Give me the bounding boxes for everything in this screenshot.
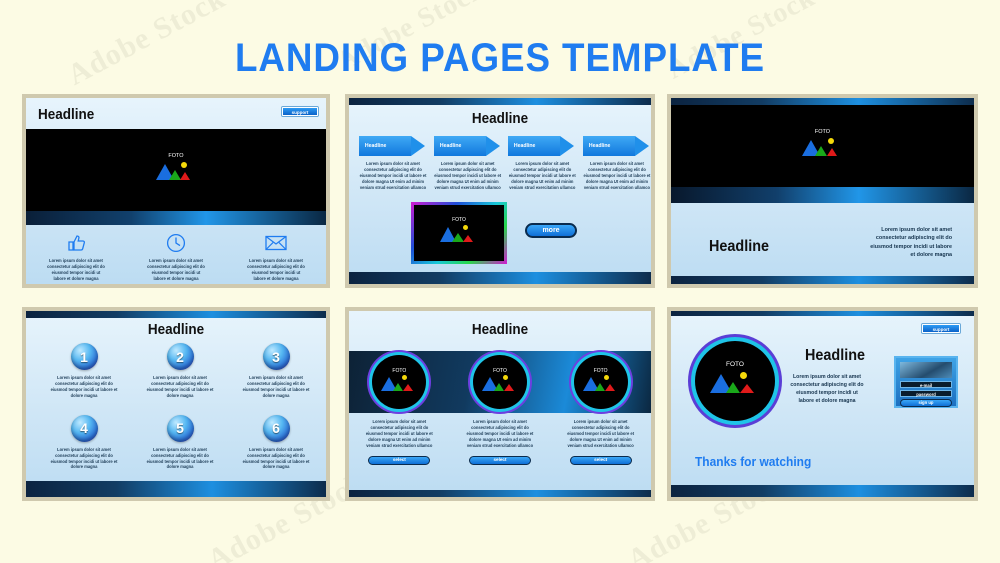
slide-1: Headline support FOTO Lorem ipsum dolor [22,94,330,288]
foto-label: FOTO [707,361,763,368]
circle-foto: FOTO [372,355,426,409]
step-label: Headline [589,143,610,149]
mountain-green-icon [494,383,504,391]
slide4-number-list: 1 Lorem ipsum dolor sit amet consectetur… [36,343,324,470]
number-badge: 3 [263,343,290,370]
step-text: Lorem ipsum dolor sit amet consectetur a… [508,161,576,191]
number-badge: 6 [263,415,290,442]
envelope-icon [265,232,287,254]
password-field[interactable]: password [900,390,952,397]
select-button[interactable]: select [570,456,632,465]
arrow-shape: Headline [583,136,651,156]
item-text: Lorem ipsum dolor sit amet consectetur a… [240,375,312,399]
slide5-bottom-bar [349,490,651,497]
sun-icon [463,225,468,230]
mountain-red-icon [827,148,837,156]
select-button[interactable]: select [469,456,531,465]
slide4-headline: Headline [41,321,311,338]
number-badge: 1 [71,343,98,370]
feature-text: Lorem ipsum dolor sit amet consectetur a… [45,258,107,282]
foto-placeholder: FOTO [379,368,419,396]
slide-2: Headline Headline Lorem ipsum dolor sit … [345,94,655,288]
sun-icon [604,375,609,380]
mountain-red-icon [504,384,514,391]
slide6-headline: Headline [805,347,865,365]
slide6-top-bar [671,311,974,316]
slide3-top-bar [671,98,974,105]
slide3-divider [671,187,974,203]
list-item[interactable]: 6 Lorem ipsum dolor sit amet consectetur… [228,415,324,471]
page-title: LANDING PAGES TEMPLATE [40,36,960,81]
slide3-hero-image: FOTO [671,105,974,187]
list-item[interactable]: 3 Lorem ipsum dolor sit amet consectetur… [228,343,324,399]
list-item[interactable]: 5 Lorem ipsum dolor sit amet consectetur… [132,415,228,471]
slide2-step-list: Headline Lorem ipsum dolor sit amet cons… [359,136,651,191]
thumbs-up-icon [66,232,86,254]
foto-label: FOTO [151,153,201,159]
slide-5: Headline FOTO FOTO [345,307,655,501]
support-button[interactable]: support [922,324,960,333]
step-item[interactable]: Headline Lorem ipsum dolor sit amet cons… [359,136,427,191]
slide4-bottom-bar [26,481,326,497]
card-text: Lorem ipsum dolor sit amet consectetur a… [363,419,435,449]
slide5-headline: Headline [364,321,636,338]
slide1-feature-list: Lorem ipsum dolor sit amet consectetur a… [26,232,326,282]
number-badge: 4 [71,415,98,442]
slide3-body-text: Lorem ipsum dolor sit amet consectetur a… [870,226,952,260]
list-item[interactable]: 4 Lorem ipsum dolor sit amet consectetur… [36,415,132,471]
mountain-green-icon [595,383,605,391]
number-badge: 5 [167,415,194,442]
arrow-shape: Headline [359,136,427,156]
sun-icon [402,375,407,380]
mountain-red-icon [403,384,413,391]
sun-icon [503,375,508,380]
foto-placeholder: FOTO [707,361,763,401]
slide2-headline: Headline [364,110,636,127]
mountain-red-icon [605,384,615,391]
item-text: Lorem ipsum dolor sit amet consectetur a… [48,447,120,471]
arrow-shape: Headline [508,136,576,156]
slide2-top-bar [349,98,651,105]
card-text: Lorem ipsum dolor sit amet consectetur a… [464,419,536,449]
foto-placeholder: FOTO [436,217,482,249]
card-text: Lorem ipsum dolor sit amet consectetur a… [565,419,637,449]
slide2-foto-frame: FOTO [411,202,507,264]
foto-label: FOTO [797,129,849,135]
card-item: Lorem ipsum dolor sit amet consectetur a… [565,419,637,465]
step-text: Lorem ipsum dolor sit amet consectetur a… [583,161,651,191]
item-text: Lorem ipsum dolor sit amet consectetur a… [240,447,312,471]
signup-button[interactable]: sign up [900,399,952,407]
step-text: Lorem ipsum dolor sit amet consectetur a… [434,161,502,191]
sun-icon [828,138,834,144]
foto-placeholder: FOTO [581,368,621,396]
step-label: Headline [514,143,535,149]
arrow-shape: Headline [434,136,502,156]
slide1-hero-image: FOTO [26,129,326,211]
slide-4: Headline 1 Lorem ipsum dolor sit amet co… [22,307,330,501]
poster-canvas: Adobe Stock Adobe Stock Adobe Stock Adob… [0,0,1000,563]
feature-text: Lorem ipsum dolor sit amet consectetur a… [245,258,307,282]
foto-label: FOTO [436,217,482,223]
mountain-red-icon [740,384,754,393]
slide5-card-list: Lorem ipsum dolor sit amet consectetur a… [349,419,651,465]
list-item[interactable]: 2 Lorem ipsum dolor sit amet consectetur… [132,343,228,399]
slide2-bottom-bar [349,272,651,284]
slide3-bottom-bar [671,276,974,284]
sun-icon [740,372,747,379]
step-label: Headline [365,143,386,149]
more-button[interactable]: more [525,223,577,238]
form-screen [900,362,952,378]
foto-label: FOTO [480,368,520,374]
mountain-red-icon [180,172,190,180]
slide-3: FOTO Headline Lorem ipsum dolor sit amet… [667,94,978,288]
feature-item: Lorem ipsum dolor sit amet consectetur a… [45,232,107,282]
item-text: Lorem ipsum dolor sit amet consectetur a… [144,375,216,399]
number-badge: 2 [167,343,194,370]
list-item[interactable]: 1 Lorem ipsum dolor sit amet consectetur… [36,343,132,399]
feature-item: Lorem ipsum dolor sit amet consectetur a… [245,232,307,282]
slide-6: support FOTO Headline Lorem ipsum dolor … [667,307,978,501]
clock-icon [166,232,186,254]
email-field[interactable]: e-mail [900,381,952,388]
foto-placeholder: FOTO [151,153,201,187]
card-item: Lorem ipsum dolor sit amet consectetur a… [363,419,435,465]
foto-label: FOTO [581,368,621,374]
slide1-headline: Headline [38,106,94,123]
feature-item: Lorem ipsum dolor sit amet consectetur a… [145,232,207,282]
circle-foto: FOTO [473,355,527,409]
sun-icon [181,162,187,168]
signup-form: e-mail password sign up [894,356,958,408]
item-text: Lorem ipsum dolor sit amet consectetur a… [48,375,120,399]
support-button[interactable]: support [282,107,318,116]
step-text: Lorem ipsum dolor sit amet consectetur a… [359,161,427,191]
mountain-red-icon [463,235,473,242]
slide1-divider [26,211,326,225]
circle-foto: FOTO [574,355,628,409]
foto-label: FOTO [379,368,419,374]
slide4-top-bar [26,311,326,318]
step-item[interactable]: Headline Lorem ipsum dolor sit amet cons… [583,136,651,191]
select-button[interactable]: select [368,456,430,465]
step-item[interactable]: Headline Lorem ipsum dolor sit amet cons… [434,136,502,191]
feature-text: Lorem ipsum dolor sit amet consectetur a… [145,258,207,282]
step-label: Headline [440,143,461,149]
mountain-green-icon [815,146,827,156]
slide5-image-list: FOTO FOTO [349,355,651,409]
slide6-body-text: Lorem ipsum dolor sit amet consectetur a… [789,373,865,405]
foto-placeholder: FOTO [797,129,849,163]
thanks-message: Thanks for watching [695,454,811,469]
card-item: Lorem ipsum dolor sit amet consectetur a… [464,419,536,465]
step-item[interactable]: Headline Lorem ipsum dolor sit amet cons… [508,136,576,191]
slide6-bottom-bar [671,485,974,497]
circle-foto: FOTO [695,341,775,421]
item-text: Lorem ipsum dolor sit amet consectetur a… [144,447,216,471]
mountain-green-icon [393,383,403,391]
mountain-green-icon [726,382,740,393]
slide3-headline: Headline [709,238,769,256]
foto-placeholder: FOTO [480,368,520,396]
